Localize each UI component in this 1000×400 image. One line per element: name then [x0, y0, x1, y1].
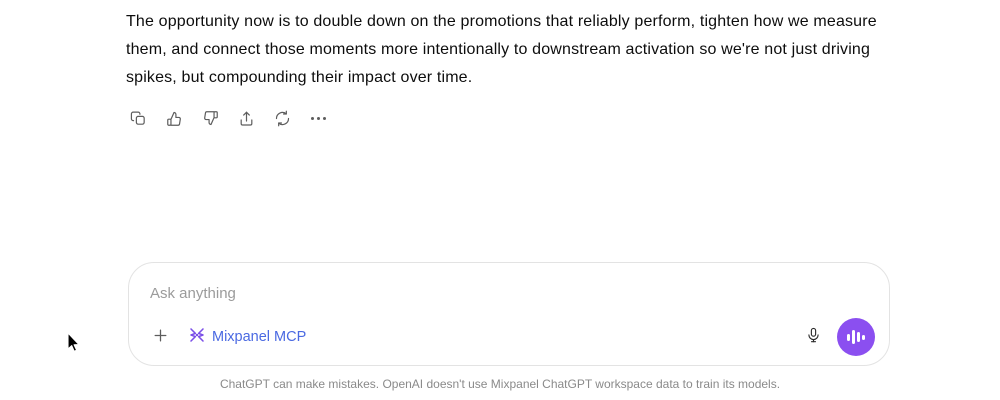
plus-icon: [152, 327, 169, 347]
thumbs-down-icon: [202, 110, 219, 127]
thumbs-up-icon: [166, 110, 183, 127]
thumbs-up-button[interactable]: [160, 104, 188, 132]
mixpanel-mcp-label: Mixpanel MCP: [212, 328, 306, 346]
footer-disclaimer: ChatGPT can make mistakes. OpenAI doesn'…: [0, 376, 1000, 392]
mixpanel-logo-icon: [189, 327, 205, 348]
dictate-button[interactable]: [798, 322, 828, 352]
copy-icon: [130, 110, 147, 127]
thumbs-down-button[interactable]: [196, 104, 224, 132]
regenerate-icon: [274, 110, 291, 127]
composer-placeholder[interactable]: Ask anything: [150, 284, 236, 304]
message-composer[interactable]: Ask anything Mixpanel MCP: [128, 262, 890, 366]
voice-mode-button[interactable]: [837, 318, 875, 356]
more-options-button[interactable]: [304, 104, 332, 132]
share-icon: [238, 110, 255, 127]
message-action-toolbar: [124, 104, 332, 132]
mixpanel-mcp-chip[interactable]: Mixpanel MCP: [183, 323, 312, 352]
composer-toolbar: Mixpanel MCP: [129, 309, 889, 365]
more-options-icon: [311, 117, 326, 120]
copy-button[interactable]: [124, 104, 152, 132]
microphone-icon: [805, 327, 822, 347]
voice-waveform-icon: [847, 328, 865, 346]
assistant-message: The opportunity now is to double down on…: [126, 8, 886, 92]
share-button[interactable]: [232, 104, 260, 132]
regenerate-button[interactable]: [268, 104, 296, 132]
mouse-cursor: [67, 332, 81, 353]
add-attachment-button[interactable]: [145, 322, 175, 352]
assistant-message-text: The opportunity now is to double down on…: [126, 8, 886, 92]
